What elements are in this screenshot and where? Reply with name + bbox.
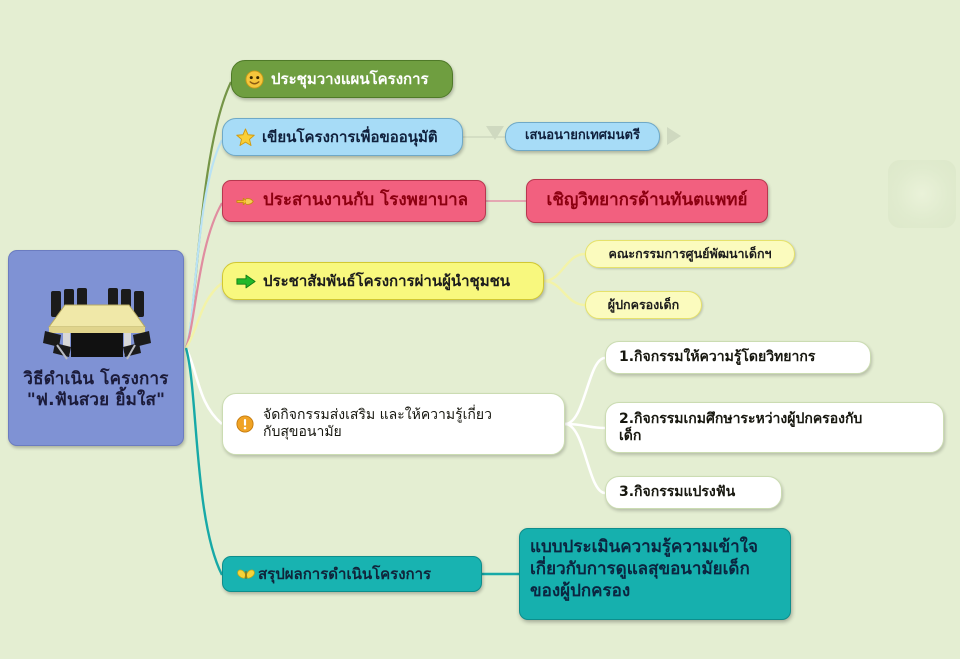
corner-watermark bbox=[888, 160, 956, 228]
node-meeting[interactable]: ประชุมวางแผนโครงการ bbox=[231, 60, 453, 98]
node-evaluation-form-label: แบบประเมินความรู้ความเข้าใจ เกี่ยวกับการ… bbox=[530, 536, 758, 602]
node-activity-2-label: 2.กิจกรรมเกมศึกษาระหว่างผู้ปกครองกับ เด็… bbox=[619, 411, 862, 445]
node-summary[interactable]: สรุปผลการดำเนินโครงการ bbox=[222, 556, 482, 592]
node-summary-label: สรุปผลการดำเนินโครงการ bbox=[258, 565, 431, 584]
node-organize-activities-label: จัดกิจกรรมส่งเสริม และให้ความรู้เกี่ยว ก… bbox=[261, 407, 492, 442]
orange-warning-icon bbox=[236, 415, 254, 433]
star-icon bbox=[236, 128, 255, 147]
node-write-project-label: เขียนโครงการเพื่อขออนุมัติ bbox=[262, 128, 438, 147]
node-write-project[interactable]: เขียนโครงการเพื่อขออนุมัติ bbox=[222, 118, 463, 156]
smiley-face-icon bbox=[245, 70, 264, 89]
node-meeting-label: ประชุมวางแผนโครงการ bbox=[271, 70, 429, 89]
mindmap-canvas: วิธีดำเนิน โครงการ "ฟ.ฟันสวย ยิ้มใส" ประ… bbox=[0, 0, 960, 659]
node-coordinate-hospital[interactable]: ประสานงานกับ โรงพยาบาล bbox=[222, 180, 486, 222]
node-child-center-committee-label: คณะกรรมการศูนย์พัฒนาเด็กฯ bbox=[608, 246, 771, 262]
node-activity-3[interactable]: 3.กิจกรรมแปรงฟัน bbox=[605, 476, 782, 509]
node-public-relations-label: ประชาสัมพันธ์โครงการผ่านผู้นำชุมชน bbox=[263, 272, 510, 291]
node-organize-activities[interactable]: จัดกิจกรรมส่งเสริม และให้ความรู้เกี่ยว ก… bbox=[222, 393, 565, 455]
node-child-parents-label: ผู้ปกครองเด็ก bbox=[608, 297, 679, 313]
node-activity-3-label: 3.กิจกรรมแปรงฟัน bbox=[619, 484, 735, 502]
expand-triangle-icon[interactable] bbox=[667, 127, 681, 145]
root-label: วิธีดำเนิน โครงการ "ฟ.ฟันสวย ยิ้มใส" bbox=[9, 369, 183, 412]
node-invite-dentist[interactable]: เชิญวิทยากรด้านทันตแพทย์ bbox=[526, 179, 768, 223]
green-arrow-icon bbox=[236, 273, 256, 290]
collapse-triangle-icon[interactable] bbox=[486, 126, 504, 140]
node-coordinate-hospital-label: ประสานงานกับ โรงพยาบาล bbox=[263, 190, 468, 211]
node-activity-1-label: 1.กิจกรรมให้ความรู้โดยวิทยากร bbox=[619, 349, 815, 367]
root-node[interactable]: วิธีดำเนิน โครงการ "ฟ.ฟันสวย ยิ้มใส" bbox=[8, 250, 184, 446]
node-invite-dentist-label: เชิญวิทยากรด้านทันตแพทย์ bbox=[547, 190, 748, 211]
node-activity-2[interactable]: 2.กิจกรรมเกมศึกษาระหว่างผู้ปกครองกับ เด็… bbox=[605, 402, 944, 453]
meeting-table-icon bbox=[35, 273, 159, 365]
butterfly-icon bbox=[236, 567, 256, 582]
node-child-center-committee[interactable]: คณะกรรมการศูนย์พัฒนาเด็กฯ bbox=[585, 240, 795, 268]
node-propose-mayor[interactable]: เสนอนายกเทศมนตรี bbox=[505, 122, 660, 151]
node-child-parents[interactable]: ผู้ปกครองเด็ก bbox=[585, 291, 702, 319]
node-activity-1[interactable]: 1.กิจกรรมให้ความรู้โดยวิทยากร bbox=[605, 341, 871, 374]
pointing-hand-icon bbox=[236, 194, 256, 209]
node-propose-mayor-label: เสนอนายกเทศมนตรี bbox=[525, 128, 640, 144]
node-public-relations[interactable]: ประชาสัมพันธ์โครงการผ่านผู้นำชุมชน bbox=[222, 262, 544, 300]
node-evaluation-form[interactable]: แบบประเมินความรู้ความเข้าใจ เกี่ยวกับการ… bbox=[519, 528, 791, 620]
